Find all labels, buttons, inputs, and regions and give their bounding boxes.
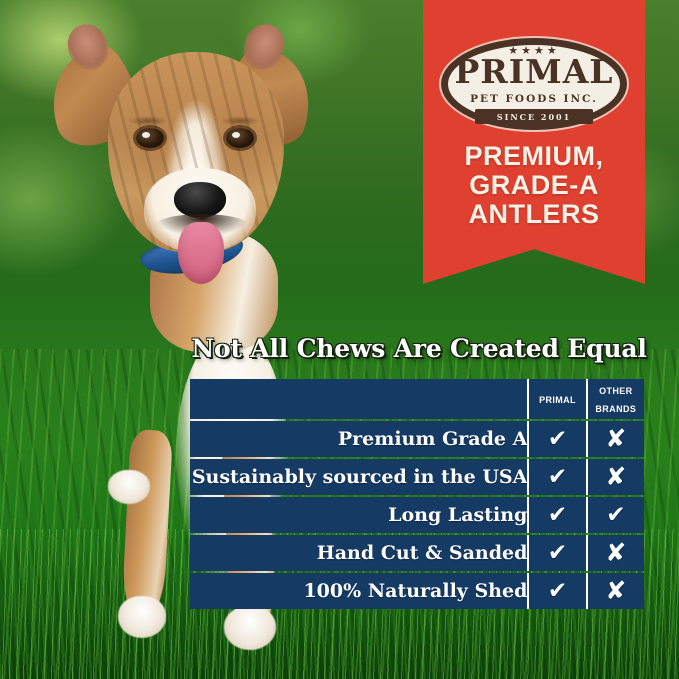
row-primal-cell: ✔: [527, 497, 585, 533]
row-other-cell: ✘: [586, 459, 644, 495]
row-feature-label: Long Lasting: [388, 504, 527, 526]
table-row: Long Lasting ✔ ✔: [190, 497, 644, 533]
row-feature-cell: Hand Cut & Sanded: [190, 535, 527, 571]
table-row: Sustainably sourced in the USA ✔ ✘: [190, 459, 644, 495]
table-header-primal: PRIMAL: [527, 379, 585, 419]
table-row: Premium Grade A ✔ ✘: [190, 421, 644, 457]
logo-subtitle: PET FOODS INC.: [441, 93, 627, 105]
row-primal-cell: ✔: [527, 421, 585, 457]
row-primal-cell: ✔: [527, 535, 585, 571]
row-other-cell: ✘: [586, 535, 644, 571]
dog-paw: [224, 606, 276, 650]
primal-logo: ★★★★ PRIMAL PET FOODS INC. SINCE 2001: [441, 38, 627, 130]
table-header-row: PRIMAL OTHER BRANDS: [190, 379, 644, 419]
check-icon: ✔: [548, 504, 567, 527]
row-feature-cell: 100% Naturally Shed: [190, 573, 527, 609]
table-row: Hand Cut & Sanded ✔ ✘: [190, 535, 644, 571]
brand-banner: ★★★★ PRIMAL PET FOODS INC. SINCE 2001 PR…: [423, 0, 645, 284]
dog-paw: [118, 596, 166, 638]
row-other-cell: ✘: [586, 421, 644, 457]
row-other-cell: ✘: [586, 573, 644, 609]
row-feature-cell: Sustainably sourced in the USA: [190, 459, 527, 495]
headline: Not All Chews Are Created Equal: [188, 334, 650, 363]
table-header-blank: [190, 379, 527, 419]
header-other-line-2: BRANDS: [595, 404, 636, 414]
header-other-line-1: OTHER: [599, 386, 633, 396]
dog-tongue: [178, 222, 224, 284]
check-icon: ✔: [606, 504, 625, 527]
dog-brow-left: [128, 116, 168, 126]
cross-icon: ✘: [605, 426, 626, 451]
dog-eye-left: [136, 128, 164, 148]
dog-nose: [174, 182, 226, 218]
banner-tagline-line-1: PREMIUM,: [423, 142, 645, 171]
check-icon: ✔: [548, 428, 567, 451]
table-row: 100% Naturally Shed ✔ ✘: [190, 573, 644, 609]
table-header-other-brands-label: OTHER BRANDS: [595, 376, 636, 414]
check-icon: ✔: [548, 466, 567, 489]
row-feature-cell: Long Lasting: [190, 497, 527, 533]
row-primal-cell: ✔: [527, 573, 585, 609]
row-feature-cell: Premium Grade A: [190, 421, 527, 457]
row-other-cell: ✔: [586, 497, 644, 533]
row-feature-label: Sustainably sourced in the USA: [192, 466, 528, 488]
logo-wordmark: PRIMAL: [441, 55, 627, 88]
row-feature-label: 100% Naturally Shed: [303, 580, 527, 602]
row-feature-label: Hand Cut & Sanded: [317, 542, 528, 564]
check-icon: ✔: [548, 542, 567, 565]
product-infographic: ★★★★ PRIMAL PET FOODS INC. SINCE 2001 PR…: [0, 0, 679, 679]
check-icon: ✔: [548, 580, 567, 603]
cross-icon: ✘: [605, 540, 626, 565]
dog-paw: [108, 470, 150, 504]
banner-tagline-line-3: ANTLERS: [423, 200, 645, 229]
cross-icon: ✘: [605, 464, 626, 489]
banner-tagline: PREMIUM, GRADE-A ANTLERS: [423, 142, 645, 229]
banner-tagline-line-2: GRADE-A: [423, 171, 645, 200]
comparison-table: PRIMAL OTHER BRANDS Premium Grade A ✔: [190, 377, 644, 611]
table-header-primal-label: PRIMAL: [539, 385, 576, 405]
dog-brow-right: [220, 116, 260, 126]
logo-since-text: SINCE 2001: [497, 112, 571, 122]
row-primal-cell: ✔: [527, 459, 585, 495]
row-feature-label: Premium Grade A: [338, 428, 528, 450]
cross-icon: ✘: [605, 578, 626, 603]
table-header-other-brands: OTHER BRANDS: [586, 379, 644, 419]
logo-since-ribbon: SINCE 2001: [475, 109, 593, 124]
dog-eye-right: [226, 128, 254, 148]
